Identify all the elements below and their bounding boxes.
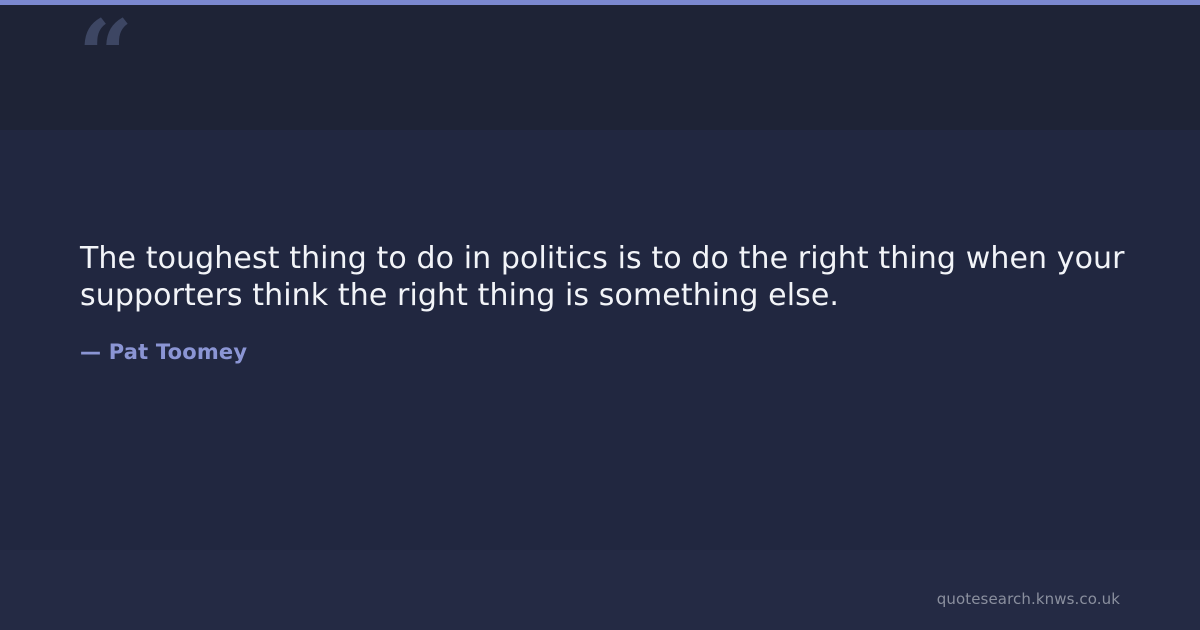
quote-card: “ The toughest thing to do in politics i… — [0, 0, 1200, 630]
open-quote-icon: “ — [78, 8, 131, 104]
quote-text: The toughest thing to do in politics is … — [80, 240, 1140, 314]
top-accent-bar — [0, 0, 1200, 5]
quote-content: The toughest thing to do in politics is … — [80, 240, 1140, 364]
quote-author: — Pat Toomey — [80, 314, 1140, 364]
site-watermark: quotesearch.knws.co.uk — [937, 590, 1120, 608]
